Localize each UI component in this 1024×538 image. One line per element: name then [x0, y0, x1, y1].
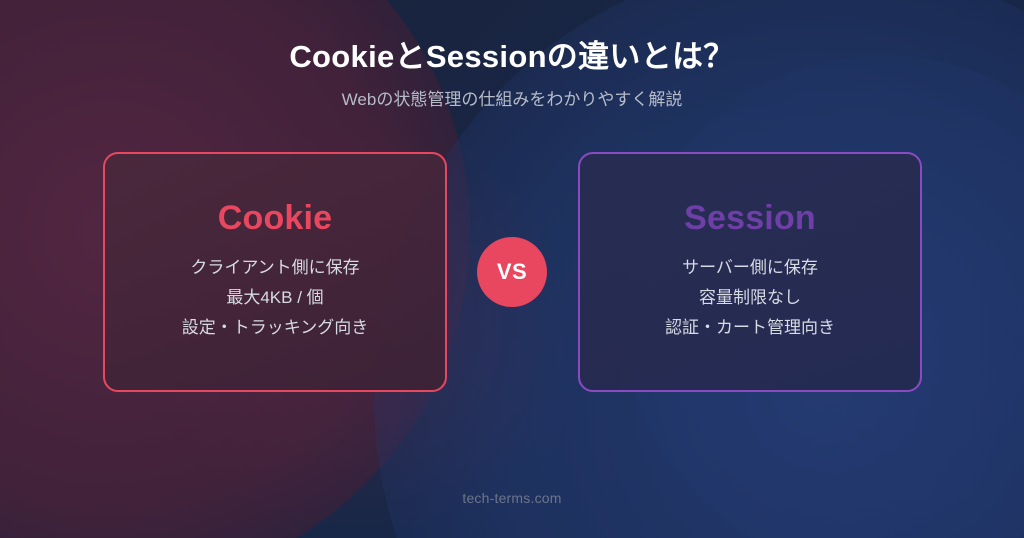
page-subtitle: Webの状態管理の仕組みをわかりやすく解説: [0, 77, 1024, 111]
comparison-card-cookie: Cookie クライアント側に保存 最大4KB / 個 設定・トラッキング向き: [103, 152, 447, 392]
page-title: CookieとSessionの違いとは？: [0, 0, 1024, 77]
versus-badge: VS: [477, 237, 547, 307]
card-title-cookie: Cookie: [218, 154, 333, 239]
card-feature-list-cookie: クライアント側に保存 最大4KB / 個 設定・トラッキング向き: [182, 239, 369, 343]
card-feature-item: 容量制限なし: [665, 283, 835, 313]
card-feature-list-session: サーバー側に保存 容量制限なし 認証・カート管理向き: [665, 239, 835, 343]
footer: tech-terms.com: [0, 490, 1024, 508]
versus-badge-label: VS: [497, 259, 527, 285]
card-feature-item: クライアント側に保存: [182, 253, 369, 283]
card-feature-item: 設定・トラッキング向き: [182, 313, 369, 343]
card-title-session: Session: [684, 154, 816, 239]
card-feature-item: 最大4KB / 個: [182, 283, 369, 313]
footer-site-name: tech-terms.com: [462, 490, 561, 506]
header: CookieとSessionの違いとは？ Webの状態管理の仕組みをわかりやすく…: [0, 0, 1024, 111]
comparison-card-session: Session サーバー側に保存 容量制限なし 認証・カート管理向き: [578, 152, 922, 392]
card-feature-item: 認証・カート管理向き: [665, 313, 835, 343]
infographic-canvas: CookieとSessionの違いとは？ Webの状態管理の仕組みをわかりやすく…: [0, 0, 1024, 538]
card-feature-item: サーバー側に保存: [665, 253, 835, 283]
